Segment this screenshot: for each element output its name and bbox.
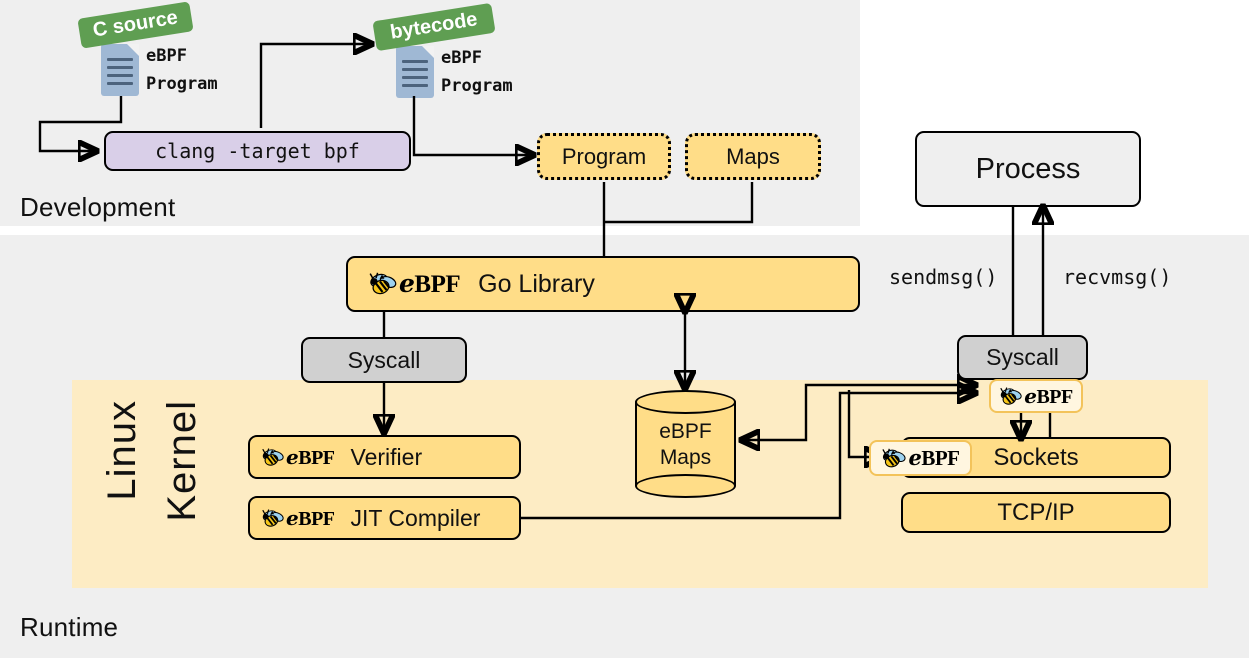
syscall-right-node[interactable]: Syscall [957, 335, 1088, 380]
sendmsg-label: sendmsg() [889, 265, 997, 289]
diagram-canvas: Development Runtime Linux Kernel [0, 0, 1249, 658]
label-ebpf-program-bytecode-line1: eBPF [441, 48, 482, 68]
label-ebpf-program-bytecode-line2: Program [441, 76, 513, 96]
label-ebpf-program-source-line2: Program [146, 74, 218, 94]
ebpf-hook-sockets[interactable]: eBPF [869, 440, 972, 476]
ebpf-maps-label-line1: eBPF [659, 419, 712, 445]
maps-node[interactable]: Maps [685, 133, 821, 180]
jit-compiler-label: JIT Compiler [351, 505, 481, 532]
clang-node[interactable]: clang -target bpf [104, 131, 411, 171]
tcpip-node[interactable]: TCP/IP [901, 492, 1171, 533]
ebpf-bee-logo: eBPF [881, 445, 959, 471]
development-zone-label: Development [20, 192, 175, 223]
ebpf-hook-syscall[interactable]: eBPF [989, 379, 1083, 413]
ebpf-wordmark: eBPF [399, 269, 460, 299]
verifier-node[interactable]: eBPF Verifier [248, 435, 521, 479]
label-ebpf-program-source-line1: eBPF [146, 46, 187, 66]
runtime-zone-label: Runtime [20, 612, 118, 643]
ebpf-wordmark: eBPF [1024, 384, 1073, 409]
ebpf-bee-logo: eBPF [999, 384, 1073, 409]
ebpf-wordmark: eBPF [908, 445, 959, 471]
doc-icon-c-source [101, 44, 139, 96]
recvmsg-label: recvmsg() [1063, 265, 1171, 289]
program-node[interactable]: Program [537, 133, 671, 180]
kernel-label-linux: Linux [100, 400, 145, 501]
go-library-label: Go Library [478, 270, 595, 299]
ebpf-wordmark: eBPF [286, 445, 335, 470]
ebpf-maps-store[interactable]: eBPF Maps [635, 390, 736, 498]
ebpf-bee-logo: eBPF [368, 269, 460, 299]
ebpf-bee-logo: eBPF [261, 445, 335, 470]
doc-icon-bytecode [396, 46, 434, 98]
kernel-label-kernel: Kernel [160, 400, 205, 522]
process-node[interactable]: Process [915, 131, 1141, 207]
jit-compiler-node[interactable]: eBPF JIT Compiler [248, 496, 521, 540]
syscall-left-node[interactable]: Syscall [301, 337, 467, 383]
ebpf-bee-logo: eBPF [261, 506, 335, 531]
verifier-label: Verifier [351, 444, 423, 471]
ebpf-wordmark: eBPF [286, 506, 335, 531]
go-library-node[interactable]: eBPF Go Library [346, 256, 860, 312]
ebpf-maps-label-line2: Maps [660, 445, 711, 471]
